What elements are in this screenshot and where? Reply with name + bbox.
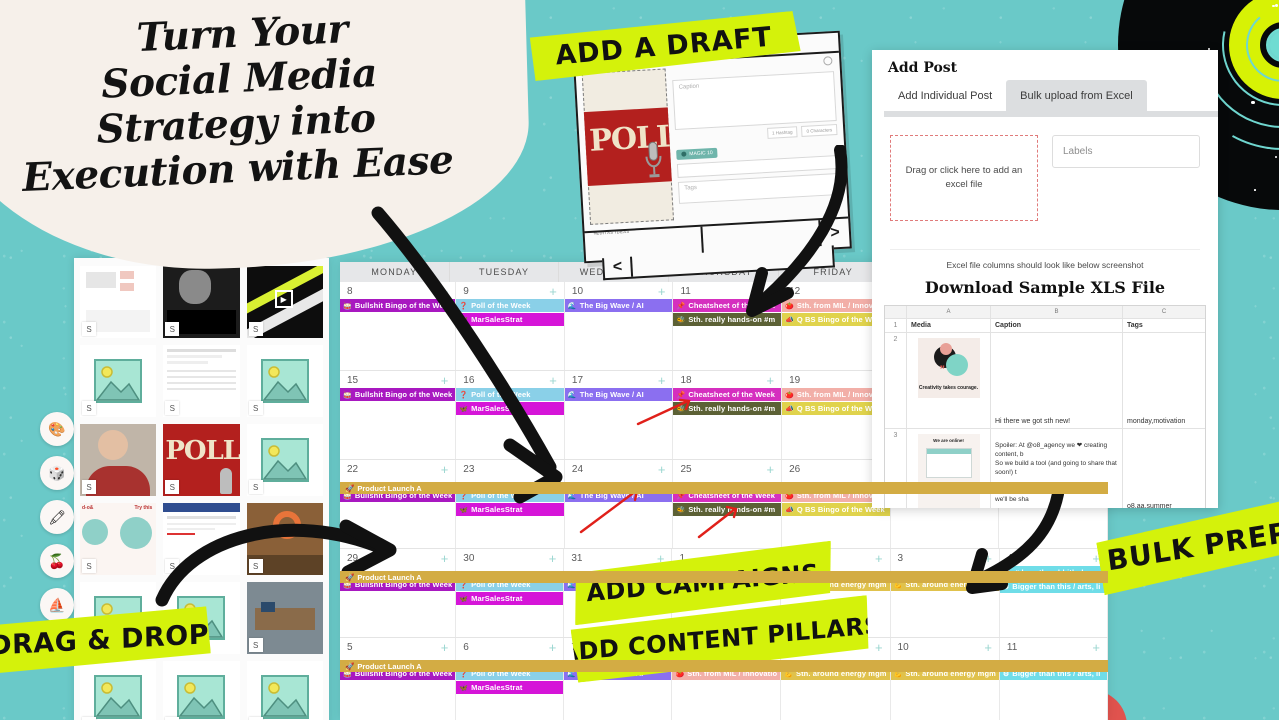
character-count-chip: 0 Characters [801, 124, 837, 137]
caption-textarea[interactable]: Caption [672, 71, 837, 130]
calendar-day-cell[interactable]: 18+📌Cheatsheet of the Week🐝Sth. really h… [673, 371, 782, 459]
image-placeholder [163, 661, 239, 720]
poll-poster-image: POLL [584, 107, 672, 186]
day-number: 10 [898, 642, 909, 653]
calendar-day-cell[interactable]: 11+⚙Bigger than this / arts, li [1000, 638, 1108, 720]
vinyl-speck [1251, 101, 1254, 104]
annotation-drag-drop-label: DRAG & DROP [0, 619, 209, 662]
event-emoji-icon: 📌 [676, 302, 685, 310]
event-emoji-icon: 🦋 [459, 684, 468, 692]
image-placeholder [80, 661, 156, 720]
table-row: 2 ” Creativity takes courage. Hi there w… [885, 333, 1205, 429]
calendar-weekday: MONDAY [340, 262, 450, 282]
vinyl-speck [1254, 189, 1256, 191]
media-cell[interactable]: S [80, 661, 156, 720]
tags-text: monday,motivation [1127, 418, 1185, 425]
poster-stage: SS▶SSSSSPOLLSSd-o&Try thisSSSSSSSSSSS▶U … [0, 0, 1279, 720]
media-cell[interactable]: S [247, 661, 323, 720]
event-title: Cheatsheet of the Week [688, 390, 775, 399]
draft-form: Caption 1 Hashtag 0 Characters MAGIC 10 … [669, 53, 848, 226]
day-header: 22+ [340, 460, 455, 477]
add-event-button[interactable]: + [875, 643, 883, 653]
calendar-day-cell[interactable]: 25+📌Cheatsheet of the Week🐝Sth. really h… [673, 460, 782, 548]
add-event-button[interactable]: + [441, 643, 449, 653]
event-title: Bullshit Bingo of the Week [355, 301, 452, 310]
day-header: 10+ [891, 638, 999, 655]
media-status-badge: S [82, 322, 96, 336]
row-index: 2 [885, 333, 907, 428]
media-cell[interactable]: d-o&Try thisS [80, 503, 156, 575]
day-number: 15 [347, 375, 358, 386]
add-event-button[interactable]: + [658, 287, 666, 297]
add-event-button[interactable]: + [441, 287, 449, 297]
campaign-band[interactable]: 🚀Product Launch A [340, 482, 1108, 494]
add-event-button[interactable]: + [766, 465, 774, 475]
image-placeholder-icon [260, 674, 310, 720]
day-number: 17 [572, 375, 583, 386]
add-post-tabs[interactable]: Add Individual Post Bulk upload from Exc… [872, 80, 1218, 111]
rocket-icon: 🚀 [345, 662, 354, 671]
add-event-button[interactable]: + [984, 554, 992, 564]
day-number: 25 [680, 464, 691, 475]
event-title: Sth. really hands-on #m [688, 505, 775, 514]
rocket-icon: 🚀 [345, 484, 354, 493]
media-cell[interactable]: S [163, 266, 239, 338]
header-media: Media [907, 319, 991, 332]
caption-text: Hi there we got sth new! [995, 418, 1070, 425]
rocket-icon: 🚀 [345, 573, 354, 582]
day-number: 19 [789, 375, 800, 386]
col-letter-b: B [991, 306, 1123, 318]
tags-cell: o8,aa,summer [1123, 429, 1205, 508]
calendar-day-cell[interactable]: 5+🥁Bullshit Bingo of the Week [340, 638, 456, 720]
image-placeholder-icon [260, 437, 310, 483]
event-title: MarSalesStrat [471, 505, 522, 514]
labels-input[interactable]: Labels [1052, 135, 1200, 168]
calendar-event[interactable]: ❓Poll of the Week [456, 388, 564, 401]
calendar-day-cell[interactable]: 9+❓Poll of the Week🦋MarSalesStrat [456, 282, 565, 370]
day-number: 11 [1007, 642, 1017, 653]
event-title: MarSalesStrat [471, 404, 522, 413]
day-number: 12 [789, 286, 800, 297]
media-cell[interactable]: S [80, 345, 156, 417]
event-title: Bigger than this / arts, li [1012, 582, 1100, 591]
microphone-icon [644, 140, 664, 181]
tab-add-individual-post[interactable]: Add Individual Post [884, 80, 1006, 111]
day-header: 30+ [456, 549, 563, 566]
day-header: 25+ [673, 460, 781, 477]
caption-cell: Spoiler: At @o8_agency we ❤ creating con… [991, 429, 1123, 508]
media-status-badge: S [82, 401, 96, 415]
add-event-button[interactable]: + [441, 465, 449, 475]
day-header: 11+ [673, 282, 781, 299]
add-event-button[interactable]: + [441, 554, 449, 564]
day-header: 23+ [456, 460, 564, 477]
event-emoji-icon: 📣 [785, 405, 794, 413]
event-emoji-icon: ⚙ [1003, 583, 1009, 591]
day-number: 23 [463, 464, 474, 475]
add-event-button[interactable]: + [766, 376, 774, 386]
event-emoji-icon: 📌 [676, 391, 685, 399]
add-event-button[interactable]: + [658, 376, 666, 386]
calendar-event[interactable]: 🦋MarSalesStrat [456, 681, 563, 694]
event-title: Bullshit Bingo of the Week [355, 390, 452, 399]
image-placeholder-icon [93, 674, 143, 720]
hashtag-count-chip: 1 Hashtag [767, 126, 798, 139]
add-event-button[interactable]: + [549, 465, 557, 475]
calendar-event[interactable]: 🥁Bullshit Bingo of the Week [340, 388, 455, 401]
event-emoji-icon: 🍅 [785, 302, 794, 310]
calendar-day-cell[interactable]: 22+🥁Bullshit Bingo of the Week [340, 460, 456, 548]
day-header: 18+ [673, 371, 781, 388]
day-number: 5 [347, 642, 353, 653]
event-emoji-icon: 🐝 [676, 506, 685, 514]
media-cell: ” Creativity takes courage. [907, 333, 991, 428]
event-emoji-icon: 🌊 [568, 391, 577, 399]
event-emoji-icon: ❓ [459, 391, 468, 399]
calendar-day-cell[interactable]: 17+🌊The Big Wave / AI [565, 371, 674, 459]
header-caption: Caption [991, 319, 1123, 332]
tags-input[interactable]: Tags [678, 173, 841, 204]
day-header: 8+ [340, 282, 455, 299]
event-emoji-icon: 🦋 [459, 506, 468, 514]
day-number: 11 [680, 286, 690, 297]
excel-format-hint: Excel file columns should look like belo… [872, 250, 1218, 272]
calendar-day-cell[interactable]: 24+🌊The Big Wave / AI [565, 460, 674, 548]
campaign-band[interactable]: 🚀Product Launch A [340, 571, 1108, 583]
calendar-event[interactable]: 🦋MarSalesStrat [456, 503, 564, 516]
calendar-weekday: TUESDAY [450, 262, 560, 282]
event-emoji-icon: 🌊 [568, 302, 577, 310]
tool-rail[interactable]: 🎨🎲🖍🍒⛵ [40, 412, 76, 632]
cherries-icon[interactable]: 🍒 [40, 544, 74, 578]
calendar-day-cell[interactable]: 10+🌊The Big Wave / AI [565, 282, 674, 370]
day-number: 9 [463, 286, 469, 297]
spreadsheet-header-row: 1 Media Caption Tags [885, 319, 1205, 333]
draft-window-body: POLL #EDITAS IDEAS Caption 1 Hashtag 0 C… [575, 53, 848, 231]
magic-icon [681, 151, 686, 156]
day-header: 24+ [565, 460, 673, 477]
magic-button[interactable]: MAGIC 10 [676, 147, 718, 159]
excel-dropzone[interactable]: Drag or click here to add an excel file [890, 135, 1038, 221]
event-title: MarSalesStrat [471, 594, 522, 603]
add-event-button[interactable]: + [766, 287, 774, 297]
event-title: Poll of the Week [471, 390, 530, 399]
add-event-button[interactable]: + [658, 465, 666, 475]
add-event-button[interactable]: + [441, 376, 449, 386]
media-status-badge: S [165, 401, 179, 415]
calendar-day-cell[interactable]: 29+🥁Bullshit Bingo of the Week [340, 549, 456, 637]
page-title: Turn Your Social Media Strategy into Exe… [0, 2, 474, 202]
add-event-button[interactable]: + [549, 376, 557, 386]
event-title: Sth. really hands-on #m [688, 315, 775, 324]
day-header: 11+ [1000, 638, 1107, 655]
tab-bulk-upload-excel[interactable]: Bulk upload from Excel [1006, 80, 1147, 111]
col-letter-c: C [1123, 306, 1205, 318]
calendar-event[interactable]: 🐝Sth. really hands-on #m [673, 402, 781, 415]
campaign-label: Product Launch A [357, 573, 421, 582]
pen-icon[interactable]: 🖍 [40, 500, 74, 534]
event-emoji-icon: 🦋 [459, 405, 468, 413]
corner-cell [885, 306, 907, 318]
media-thumbnail-online: We are online! [918, 434, 980, 508]
day-number: 29 [347, 553, 358, 564]
media-status-badge: S [249, 638, 263, 652]
media-status-badge: S [165, 559, 179, 573]
event-title: Cheatsheet of the Week [688, 301, 775, 310]
calendar-event[interactable]: 🦋MarSalesStrat [456, 402, 564, 415]
day-header: 4+ [1000, 549, 1107, 566]
sample-spreadsheet: A B C 1 Media Caption Tags 2 ” Cr [884, 305, 1206, 508]
table-row: 3 We are online! Spoiler: At @o8_agency … [885, 429, 1205, 508]
calendar-event[interactable]: 📌Cheatsheet of the Week [673, 299, 781, 312]
calendar-day-cell[interactable]: 16+❓Poll of the Week🦋MarSalesStrat [456, 371, 565, 459]
day-header: 29+ [340, 549, 455, 566]
day-number: 8 [347, 286, 353, 297]
emoji-picker-icon[interactable] [823, 56, 832, 65]
event-emoji-icon: 📣 [785, 316, 794, 324]
media-status-badge: S [249, 480, 263, 494]
day-number: 30 [463, 553, 474, 564]
event-title: MarSalesStrat [471, 315, 522, 324]
day-header: 6+ [456, 638, 563, 655]
calendar-day-cell[interactable]: 4+🐰#downtherabbithole⚙Bigger than this /… [1000, 549, 1108, 637]
media-status-badge: S [165, 322, 179, 336]
calendar-day-cell[interactable]: 11+📌Cheatsheet of the Week🐝Sth. really h… [673, 282, 782, 370]
quote-glyph: ” [940, 364, 946, 376]
calendar-day-cell[interactable]: 3+💪Sth. around energy mgm [891, 549, 1000, 637]
day-header: 16+ [456, 371, 564, 388]
day-number: 22 [347, 464, 358, 475]
day-number: 24 [572, 464, 583, 475]
media-cell[interactable]: S [247, 424, 323, 496]
media-cell[interactable]: S [163, 345, 239, 417]
day-header: 5+ [340, 638, 455, 655]
magic-button-label: MAGIC 10 [689, 149, 713, 156]
media-cell[interactable]: S [163, 661, 239, 720]
calendar-event[interactable]: 🐝Sth. really hands-on #m [673, 503, 781, 516]
day-number: 6 [463, 642, 469, 653]
calendar-day-cell[interactable]: 6+❓Poll of the Week🦋MarSalesStrat [456, 638, 564, 720]
event-emoji-icon: 🥁 [343, 391, 352, 399]
day-header: 10+ [565, 282, 673, 299]
palette-icon[interactable]: 🎨 [40, 412, 74, 446]
media-cell[interactable]: POLLS [163, 424, 239, 496]
event-emoji-icon: 📣 [785, 506, 794, 514]
caption-cell: Hi there we got sth new! [991, 333, 1123, 428]
image-placeholder-icon [176, 674, 226, 720]
prev-button[interactable]: < [604, 257, 633, 279]
calendar-event[interactable]: 🥁Bullshit Bingo of the Week [340, 299, 455, 312]
event-title: MarSalesStrat [471, 683, 522, 692]
next-button[interactable]: > [820, 219, 850, 249]
media-cell[interactable]: S [163, 503, 239, 575]
event-emoji-icon: 🦋 [459, 316, 468, 324]
row-index: 1 [885, 319, 907, 332]
calendar-event[interactable]: 📌Cheatsheet of the Week [673, 388, 781, 401]
calendar-event[interactable]: 🦋MarSalesStrat [456, 592, 563, 605]
event-emoji-icon: 🥁 [343, 302, 352, 310]
calendar-day-cell[interactable]: 10+💪Sth. around energy mgm [891, 638, 1000, 720]
caption-text: Spoiler: At @o8_agency we ❤ creating con… [995, 442, 1117, 508]
calendar-event[interactable]: 🌊The Big Wave / AI [565, 299, 673, 312]
event-emoji-icon: ❓ [459, 302, 468, 310]
calendar-event[interactable]: ❓Poll of the Week [456, 299, 564, 312]
image-placeholder [247, 661, 323, 720]
campaign-label: Product Launch A [357, 484, 421, 493]
media-cell[interactable]: ▶S [247, 266, 323, 338]
calendar-day-cell[interactable]: 30+❓Poll of the Week🦋MarSalesStrat [456, 549, 564, 637]
event-title: Sth. really hands-on #m [688, 404, 775, 413]
col-letter-a: A [907, 306, 991, 318]
add-event-button[interactable]: + [549, 643, 557, 653]
thumbnail-caption: We are online! [922, 438, 976, 443]
campaign-label: Product Launch A [357, 662, 421, 671]
draft-media-preview[interactable]: POLL #EDITAS IDEAS [582, 68, 674, 224]
day-header: 17+ [565, 371, 673, 388]
add-post-body: Drag or click here to add an excel file … [872, 117, 1218, 221]
row-index: 3 [885, 429, 907, 508]
add-event-button[interactable]: + [549, 554, 557, 564]
calendar-day-cell[interactable]: 15+🥁Bullshit Bingo of the Week [340, 371, 456, 459]
day-header: 15+ [340, 371, 455, 388]
day-header: 3+ [891, 549, 999, 566]
laptop-graphic [926, 448, 972, 478]
vinyl-speck [1275, 4, 1278, 7]
download-sample-xls-link[interactable]: Download Sample XLS File [872, 272, 1218, 305]
media-cell[interactable]: S [247, 582, 323, 654]
media-cell[interactable]: S [80, 424, 156, 496]
media-status-badge: S [82, 480, 96, 494]
spreadsheet-column-letters: A B C [885, 306, 1205, 319]
media-status-badge: S [82, 559, 96, 573]
calendar-day-cell[interactable]: 23+❓Poll of the Week🦋MarSalesStrat [456, 460, 565, 548]
grid-icon[interactable]: 🎲 [40, 456, 74, 490]
add-post-title: Add Post [872, 50, 1218, 80]
media-status-badge: S [249, 559, 263, 573]
event-emoji-icon: 🐝 [676, 405, 685, 413]
calendar-day-cell[interactable]: 8+🥁Bullshit Bingo of the Week [340, 282, 456, 370]
add-event-button[interactable]: + [549, 287, 557, 297]
boat-icon[interactable]: ⛵ [40, 588, 74, 622]
day-header: 9+ [456, 282, 564, 299]
add-event-button[interactable]: + [875, 554, 883, 564]
media-status-badge: S [165, 480, 179, 494]
day-number: 16 [463, 375, 474, 386]
media-cell[interactable]: S [247, 345, 323, 417]
add-post-panel[interactable]: Add Post Add Individual Post Bulk upload… [872, 50, 1218, 508]
day-number: 3 [898, 553, 904, 564]
media-status-badge: S [249, 322, 263, 336]
header-tags: Tags [1123, 319, 1205, 332]
calendar-event[interactable]: 🌊The Big Wave / AI [565, 388, 673, 401]
media-thumbnail-quote: ” Creativity takes courage. [918, 338, 980, 398]
day-number: 18 [680, 375, 691, 386]
day-number: 31 [571, 553, 582, 564]
add-event-button[interactable]: + [984, 643, 992, 653]
media-cell: We are online! [907, 429, 991, 508]
event-emoji-icon: 🦋 [459, 595, 468, 603]
tags-cell: monday,motivation [1123, 333, 1205, 428]
event-emoji-icon: 🐝 [676, 316, 685, 324]
day-number: 4 [1007, 553, 1013, 564]
event-title: The Big Wave / AI [580, 390, 644, 399]
media-cell[interactable]: S [247, 503, 323, 575]
thumbnail-caption: Creativity takes courage. [918, 385, 980, 392]
image-placeholder-icon [93, 358, 143, 404]
calendar-event[interactable]: 🦋MarSalesStrat [456, 313, 564, 326]
tags-text: o8,aa,summer [1127, 503, 1172, 508]
media-status-badge: S [249, 401, 263, 415]
event-title: The Big Wave / AI [580, 301, 644, 310]
campaign-band[interactable]: 🚀Product Launch A [340, 660, 1108, 672]
event-emoji-icon: 🍅 [785, 391, 794, 399]
image-placeholder-icon [260, 358, 310, 404]
media-cell[interactable]: S [80, 266, 156, 338]
day-number: 10 [572, 286, 583, 297]
add-event-button[interactable]: + [1092, 643, 1100, 653]
day-number: 26 [789, 464, 800, 475]
event-title: Poll of the Week [471, 301, 530, 310]
calendar-event[interactable]: 🐝Sth. really hands-on #m [673, 313, 781, 326]
